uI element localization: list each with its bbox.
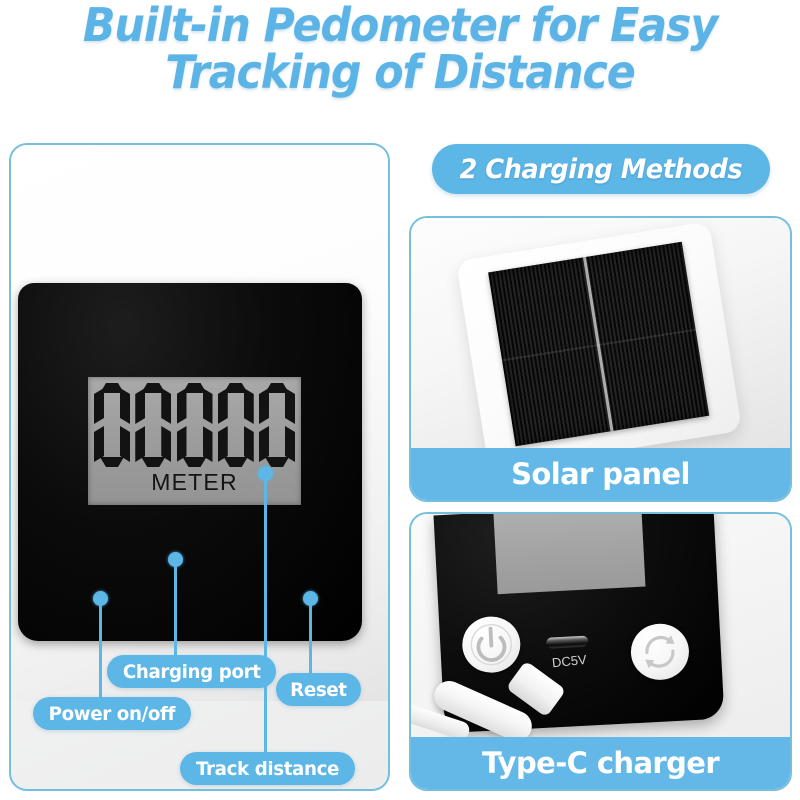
callout-charging-port[interactable]: Charging port [107,655,276,688]
callout-reset-label: Reset [290,679,346,701]
solar-panel-caption-label: Solar panel [511,457,690,491]
type-c-caption: Type-C charger [411,737,790,789]
power-icon [461,615,522,674]
callout-power-on-off[interactable]: Power on/off [33,697,191,730]
lcd-display: METER [88,377,301,505]
type-c-charger-card: DC5V Type-C charger [409,512,792,791]
reset-arrows-icon [630,622,691,681]
solar-device-housing [456,221,742,470]
callout-power-on-off-label: Power on/off [49,703,175,725]
charging-methods-header: 2 Charging Methods [432,144,770,194]
lcd-digit [218,383,254,467]
infographic-root: Built-in Pedometer for Easy Tracking of … [0,0,800,800]
lcd-digit [259,383,295,467]
callout-line-track-distance [264,473,267,758]
callout-line-charging-port [174,559,177,656]
callout-reset[interactable]: Reset [276,673,361,706]
title-line-1: Built-in Pedometer for Easy [28,2,772,49]
page-title: Built-in Pedometer for Easy Tracking of … [0,2,800,96]
callout-charging-port-label: Charging port [123,661,261,683]
pedometer-device-photo: METER DC5V [9,143,390,701]
callout-track-distance[interactable]: Track distance [180,752,355,785]
type-c-caption-label: Type-C charger [482,746,719,780]
charging-methods-header-label: 2 Charging Methods [460,154,743,185]
device-faceplate: METER DC5V [18,283,362,641]
solar-cell-array [488,242,709,446]
lcd-digit [135,383,171,467]
lcd-digits [94,383,295,467]
lcd-digit [94,383,130,467]
type-c-power-button[interactable] [461,615,522,674]
type-c-usb-port[interactable] [546,636,589,649]
type-c-lcd-display [493,512,645,594]
solar-panel-card: Solar panel [409,216,792,502]
lcd-digit [177,383,213,467]
callout-line-reset [309,598,312,675]
callout-line-power [99,598,102,712]
type-c-dc5v-label: DC5V [539,650,600,671]
title-line-2: Tracking of Distance [28,49,772,96]
type-c-reset-button[interactable] [630,622,691,681]
solar-panel-caption: Solar panel [411,448,790,500]
callout-track-distance-label: Track distance [196,758,339,780]
